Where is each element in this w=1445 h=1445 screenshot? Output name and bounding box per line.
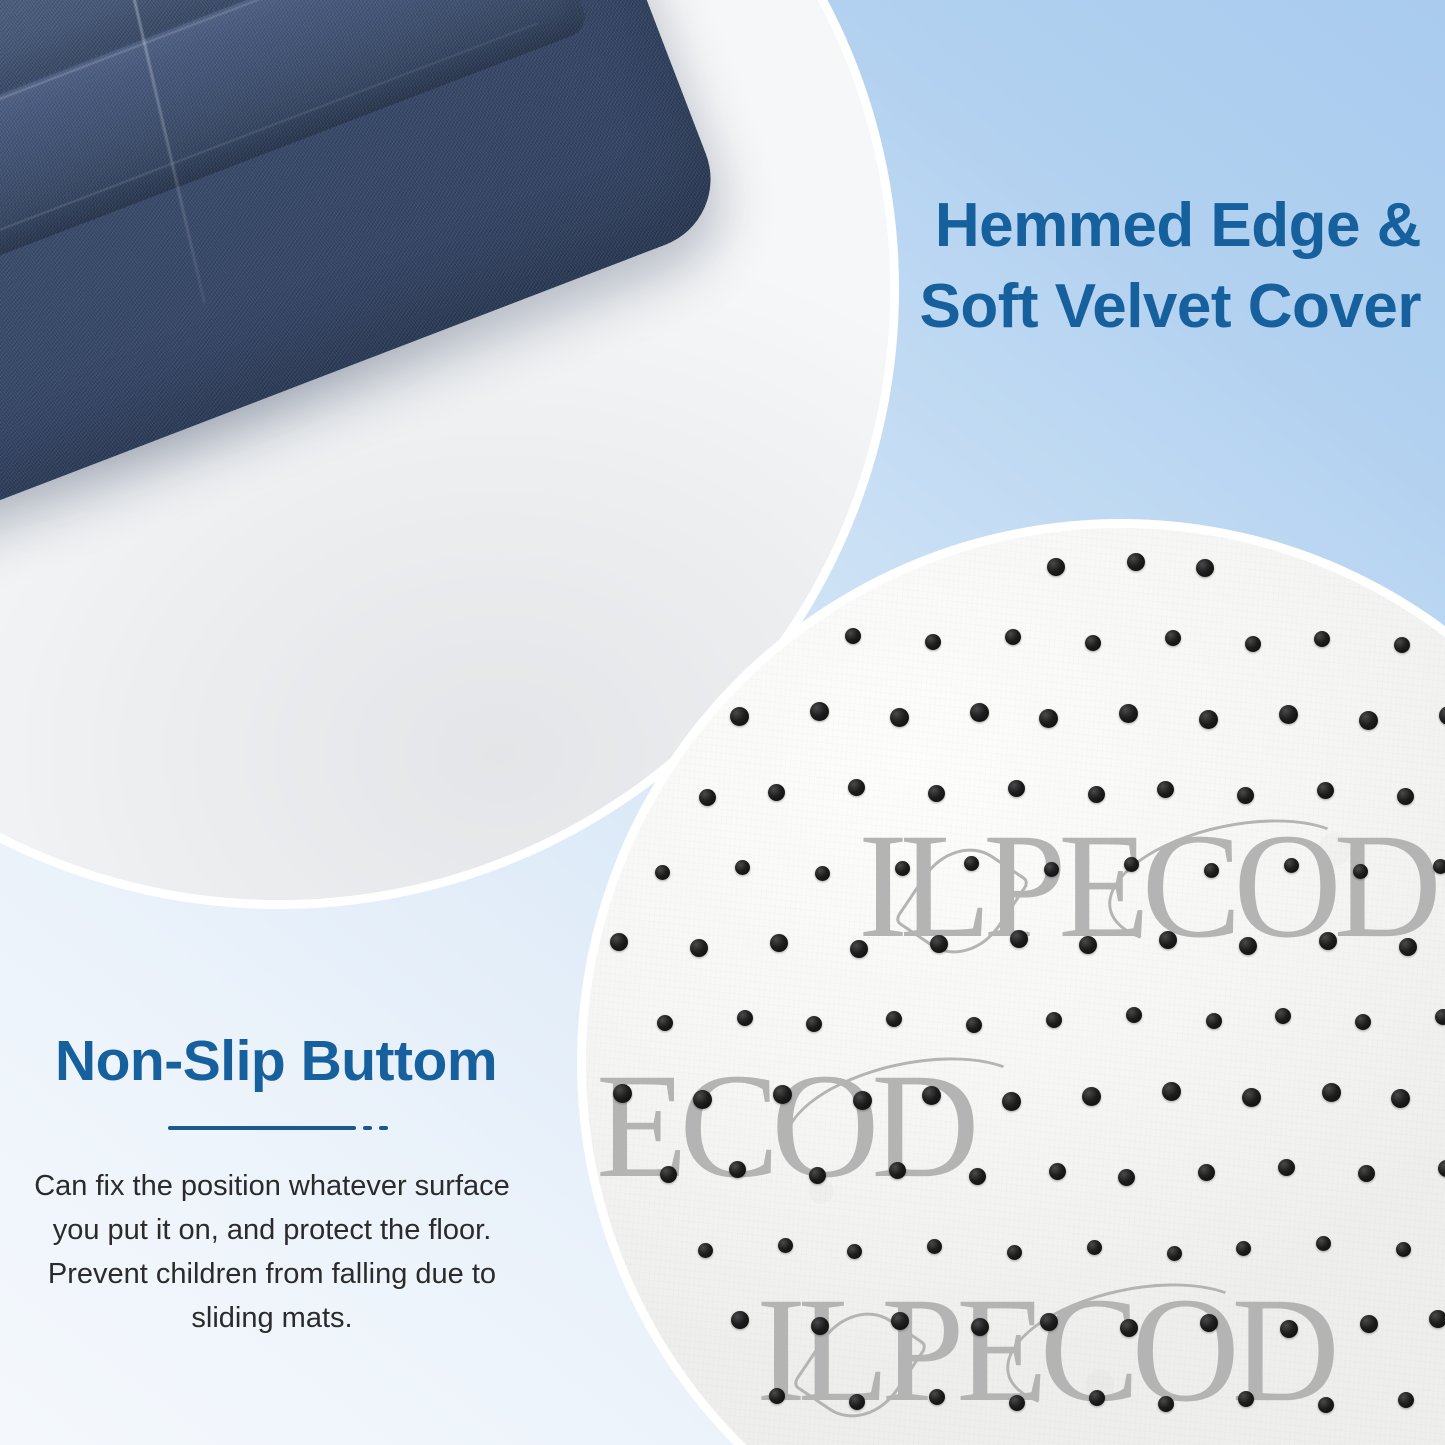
grip-dot <box>1010 930 1028 948</box>
divider-dash-1 <box>363 1126 372 1130</box>
grip-dot <box>735 860 750 875</box>
grip-dot <box>1124 857 1139 872</box>
grip-dot <box>1396 1242 1411 1257</box>
grip-dot <box>1391 1089 1410 1108</box>
body-line-2: you put it on, and protect the floor. <box>22 1208 522 1252</box>
grip-dot <box>1079 936 1097 954</box>
grip-dot <box>1433 859 1445 874</box>
grip-dot <box>1280 1320 1298 1338</box>
grip-dot <box>849 1394 865 1410</box>
grip-dot <box>1047 558 1065 576</box>
grip-dot <box>1242 1088 1261 1107</box>
heading-hemmed-edge: Hemmed Edge & Soft Velvet Cover <box>701 186 1421 347</box>
grip-dot <box>613 1084 632 1103</box>
grip-dot <box>845 628 861 644</box>
grip-dot <box>770 934 788 952</box>
body-non-slip: Can fix the position whatever surface yo… <box>0 1164 540 1340</box>
grip-dot <box>966 1017 982 1033</box>
heading-line-1: Hemmed Edge & <box>701 186 1421 267</box>
grip-dot <box>1088 786 1105 803</box>
grip-dot <box>1126 1007 1142 1023</box>
grip-dot <box>769 1388 785 1404</box>
grip-dot <box>850 940 868 958</box>
grip-dot <box>1085 635 1101 651</box>
grip-dot <box>1237 787 1254 804</box>
grip-dot <box>1204 863 1219 878</box>
divider-bar <box>168 1126 356 1130</box>
grip-dot <box>1008 780 1025 797</box>
grip-dot <box>657 1015 673 1031</box>
grip-dot <box>729 1161 746 1178</box>
divider-dash-2 <box>379 1126 388 1130</box>
heading-divider <box>0 1114 540 1142</box>
grip-dot <box>1200 1314 1218 1332</box>
grip-dot <box>660 1166 677 1183</box>
grip-dot <box>1046 1012 1062 1028</box>
grip-dot <box>1199 710 1218 729</box>
grip-dot <box>853 1091 872 1110</box>
grip-dot <box>699 789 716 806</box>
grip-dot <box>1279 705 1298 724</box>
grip-dot <box>1009 1395 1025 1411</box>
body-line-4: sliding mats. <box>22 1296 522 1340</box>
grip-dot <box>1087 1240 1102 1255</box>
grip-dot <box>1118 1169 1135 1186</box>
grip-dot <box>895 861 910 876</box>
grip-dot <box>1359 711 1378 730</box>
grip-dot <box>1322 1083 1341 1102</box>
grip-dot <box>1236 1241 1251 1256</box>
grip-dot <box>1239 937 1257 955</box>
grip-dot <box>1353 864 1368 879</box>
grip-dot <box>737 1010 753 1026</box>
grip-dot <box>1040 1313 1058 1331</box>
grip-dot <box>886 1011 902 1027</box>
grip-dot <box>809 1167 826 1184</box>
grip-dot <box>1005 629 1021 645</box>
grip-dot <box>1007 1245 1022 1260</box>
grip-dot <box>693 1090 712 1109</box>
grip-dot <box>1314 631 1330 647</box>
grip-dot <box>848 779 865 796</box>
grip-dot <box>847 1244 862 1259</box>
grip-dot <box>610 933 628 951</box>
grip-dot <box>1127 553 1145 571</box>
grip-dot <box>1355 1014 1371 1030</box>
grip-dot <box>1120 1319 1138 1337</box>
grip-dot <box>928 785 945 802</box>
grip-dot <box>768 784 785 801</box>
grip-dot <box>1082 1087 1101 1106</box>
grip-dot <box>1358 1165 1375 1182</box>
grip-dot <box>1206 1013 1222 1029</box>
grip-dot <box>1394 637 1410 653</box>
product-infographic: Hemmed Edge & Soft Velvet Cover ILPECOD … <box>0 0 1445 1445</box>
grip-dot <box>969 1168 986 1185</box>
grip-dot <box>1245 636 1261 652</box>
grip-dot <box>1002 1092 1021 1111</box>
heading-line-2: Soft Velvet Cover <box>701 267 1421 348</box>
grip-dot <box>1435 1009 1445 1025</box>
grip-dot <box>922 1086 941 1105</box>
grip-dot <box>1318 1397 1334 1413</box>
grip-dot <box>778 1238 793 1253</box>
grip-dot <box>811 1317 829 1335</box>
grip-dot <box>1158 1396 1174 1412</box>
grip-dot <box>698 1243 713 1258</box>
grip-dot <box>730 707 749 726</box>
grip-dot <box>815 866 830 881</box>
grip-dot <box>1159 931 1177 949</box>
grip-dot <box>1119 704 1138 723</box>
grip-dot <box>891 1312 909 1330</box>
grip-dot <box>930 935 948 953</box>
grip-dot <box>1049 1163 1066 1180</box>
grip-dot <box>1278 1159 1295 1176</box>
grip-dot <box>1398 1392 1414 1408</box>
grip-dot <box>970 703 989 722</box>
grip-dot <box>1317 782 1334 799</box>
photo-non-slip-bottom: ILPECOD ECOD ILPECOD <box>586 528 1445 1445</box>
grip-dot <box>889 1162 906 1179</box>
grip-dot <box>806 1016 822 1032</box>
grip-dot <box>1319 932 1337 950</box>
grip-dot <box>1089 1390 1105 1406</box>
grip-dot <box>1397 788 1414 805</box>
grip-dot <box>1165 630 1181 646</box>
grip-dot <box>690 939 708 957</box>
grip-dot <box>964 856 979 871</box>
grip-dot <box>1198 1164 1215 1181</box>
grip-dot <box>1238 1391 1254 1407</box>
grip-dot <box>655 865 670 880</box>
grip-dot <box>1275 1008 1291 1024</box>
grip-dot <box>971 1318 989 1336</box>
grip-dot <box>1399 938 1417 956</box>
grip-dot <box>731 1311 749 1329</box>
feature-non-slip-text: Non-Slip Buttom Can fix the position wha… <box>0 1032 540 1340</box>
grip-dot <box>1316 1236 1331 1251</box>
grip-dot <box>890 708 909 727</box>
grip-dot <box>1039 709 1058 728</box>
grip-dot <box>925 634 941 650</box>
body-line-3: Prevent children from falling due to <box>22 1252 522 1296</box>
grip-dot <box>1439 706 1445 725</box>
grip-dot <box>1196 559 1214 577</box>
grip-dot <box>810 702 829 721</box>
grip-dot <box>1044 862 1059 877</box>
grip-dot <box>1167 1246 1182 1261</box>
grip-dot <box>1438 1160 1445 1177</box>
grip-dot <box>1360 1315 1378 1333</box>
grip-dot <box>1284 858 1299 873</box>
grip-dot <box>773 1085 792 1104</box>
body-line-1: Can fix the position whatever surface <box>22 1164 522 1208</box>
non-slip-grip-dots <box>586 528 1445 1445</box>
grip-dot <box>1429 1310 1445 1328</box>
grip-dot <box>1162 1082 1181 1101</box>
heading-non-slip: Non-Slip Buttom <box>0 1032 540 1092</box>
grip-dot <box>927 1239 942 1254</box>
grip-dot <box>1157 781 1174 798</box>
grip-dot <box>929 1389 945 1405</box>
